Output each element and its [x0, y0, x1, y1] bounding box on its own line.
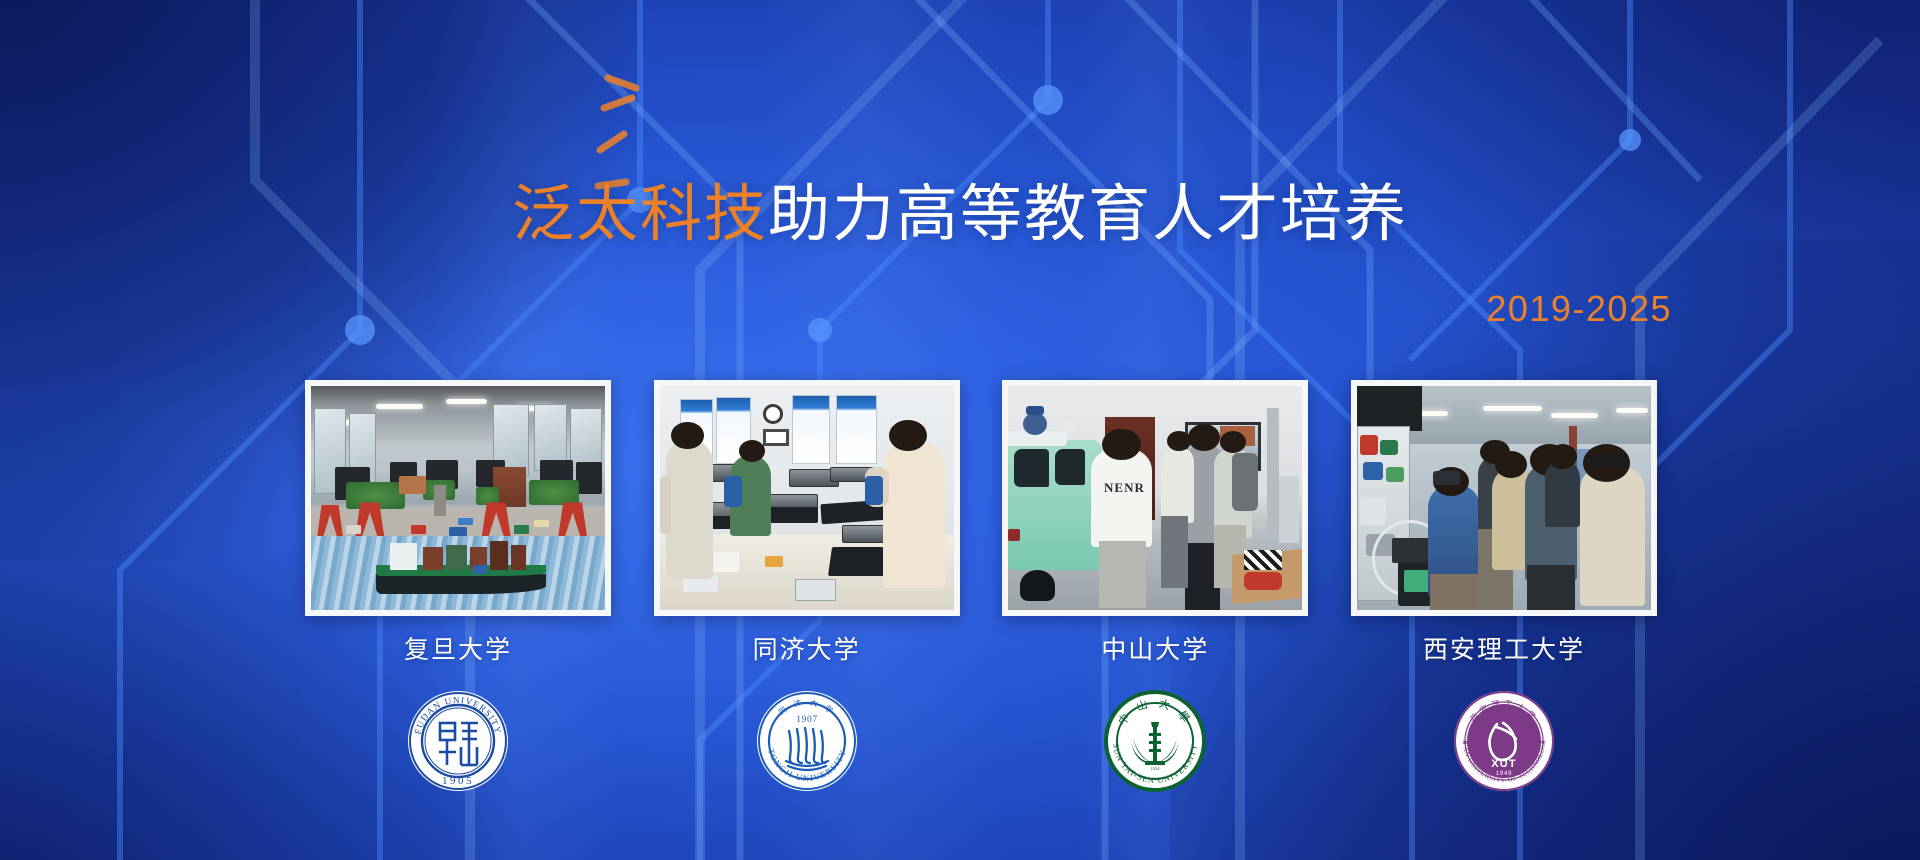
- tongji-university-logo: 同 济 大 学 TONGJI UNIVERSITY 1907: [755, 689, 859, 793]
- svg-text:1949: 1949: [1496, 771, 1513, 777]
- university-logo-row: FUDAN UNIVERSITY 1905: [305, 686, 1657, 796]
- photo-frame: NENR: [1002, 380, 1308, 616]
- svg-text:★: ★: [1540, 738, 1546, 746]
- photo-frame: [654, 380, 960, 616]
- svg-text:★: ★: [1462, 738, 1468, 746]
- svg-text:1905: 1905: [442, 775, 474, 787]
- banner-subtitle-years: 2019-2025: [0, 288, 1672, 330]
- sun-yat-sen-university-logo: 中 山 大 學 SUN YAT-SEN UNIVERSITY: [1103, 689, 1207, 793]
- logo-slot: FUDAN UNIVERSITY 1905: [305, 689, 611, 793]
- logo-slot: 西安理工大学 XI'AN UNIVERSITY OF TECHNOLOGY ★ …: [1351, 689, 1657, 793]
- university-name: 西安理工大学: [1351, 630, 1657, 670]
- svg-text:1907: 1907: [796, 715, 817, 725]
- xian-university-of-technology-logo: 西安理工大学 XI'AN UNIVERSITY OF TECHNOLOGY ★ …: [1452, 689, 1556, 793]
- university-name: 中山大学: [1002, 630, 1308, 670]
- university-card[interactable]: [654, 380, 960, 616]
- university-card[interactable]: [305, 380, 611, 616]
- title-tagline: 助力高等教育人才培养: [768, 180, 1408, 249]
- logo-slot: 中 山 大 學 SUN YAT-SEN UNIVERSITY: [1002, 689, 1308, 793]
- students-at-equipment-photo: [1357, 386, 1651, 610]
- autonomous-vehicle-garage-photo: NENR: [1008, 386, 1302, 610]
- university-name: 同济大学: [654, 630, 960, 670]
- university-name: 复旦大学: [305, 630, 611, 670]
- university-card[interactable]: NENR: [1002, 380, 1308, 616]
- port-city-model-lab-photo: [311, 386, 605, 610]
- photo-gallery: NENR: [305, 380, 1657, 620]
- svg-text:1924: 1924: [1151, 766, 1161, 771]
- photo-frame: [305, 380, 611, 616]
- banner-title: 泛太科技助力高等教育人才培养: [0, 178, 1920, 251]
- logo-slot: 同 济 大 学 TONGJI UNIVERSITY 1907: [654, 689, 960, 793]
- photo-frame: [1351, 380, 1657, 616]
- electronics-lab-bench-photo: [660, 386, 954, 610]
- university-card[interactable]: [1351, 380, 1657, 616]
- brand-name: 泛太科技: [512, 180, 768, 249]
- fudan-university-logo: FUDAN UNIVERSITY 1905: [406, 689, 510, 793]
- svg-text:XUT: XUT: [1491, 758, 1517, 770]
- university-name-row: 复旦大学 同济大学 中山大学 西安理工大学: [305, 630, 1657, 670]
